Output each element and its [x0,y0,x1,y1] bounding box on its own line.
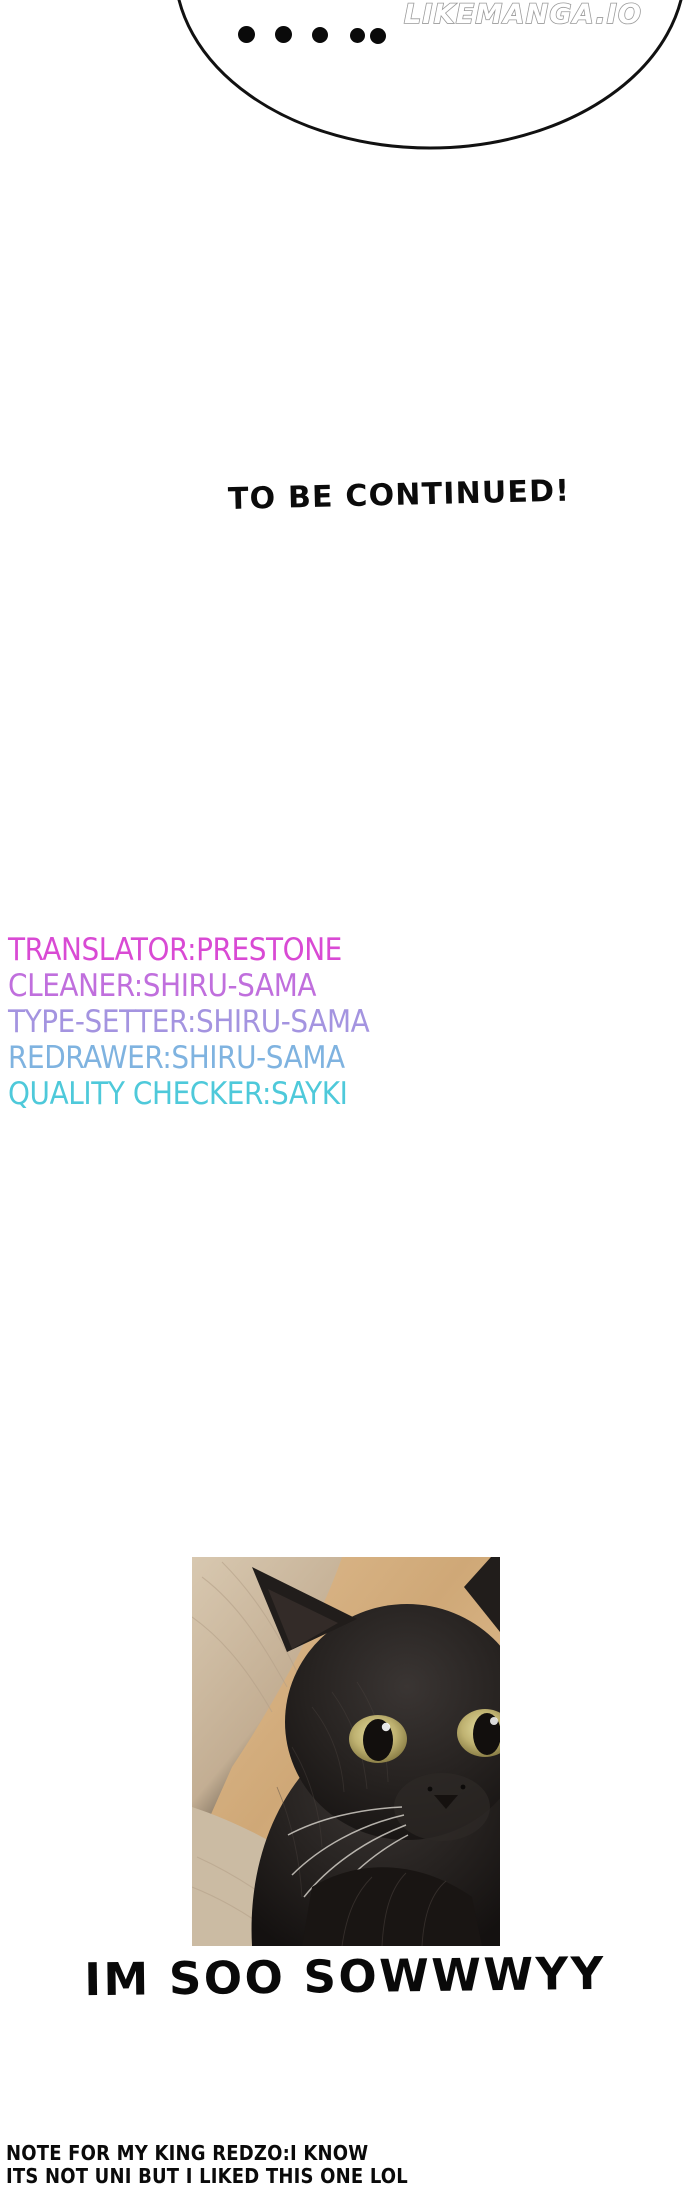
credit-line-type-setter: TYPE-SETTER:SHIRU-SAMA [8,1004,468,1040]
credit-line-quality-checker: QUALITY CHECKER:SAYKI [8,1076,468,1112]
to-be-continued-text: TO BE CONTINUED! [228,474,571,517]
credit-line-translator: TRANSLATOR:PRESTONE [8,932,468,968]
cat-photo-illustration [192,1557,500,1946]
webtoon-page: LIKEMANGA.IO TO BE CONTINUED! TRANSLATOR… [0,0,690,2187]
bubble-dot-2 [275,26,292,43]
sorry-caption: IM SOO SOWWWYY [0,1946,690,2007]
bubble-dot-4 [350,28,365,43]
scanlation-credits: TRANSLATOR:PRESTONE CLEANER:SHIRU-SAMA T… [8,932,468,1112]
site-watermark: LIKEMANGA.IO [404,0,642,30]
bubble-dot-5 [370,28,386,44]
author-note: NOTE FOR MY KING REDZO:I KNOW ITS NOT UN… [6,2142,686,2187]
bubble-dot-3 [312,27,328,43]
credit-line-cleaner: CLEANER:SHIRU-SAMA [8,968,468,1004]
speech-bubble-panel: LIKEMANGA.IO [0,0,690,170]
credit-line-redrawer: REDRAWER:SHIRU-SAMA [8,1040,468,1076]
bubble-dot-1 [238,26,255,43]
author-note-line-1: NOTE FOR MY KING REDZO:I KNOW [6,2142,686,2165]
author-note-line-2: ITS NOT UNI BUT I LIKED THIS ONE LOL [6,2165,686,2187]
black-cat-photo [192,1557,500,1946]
